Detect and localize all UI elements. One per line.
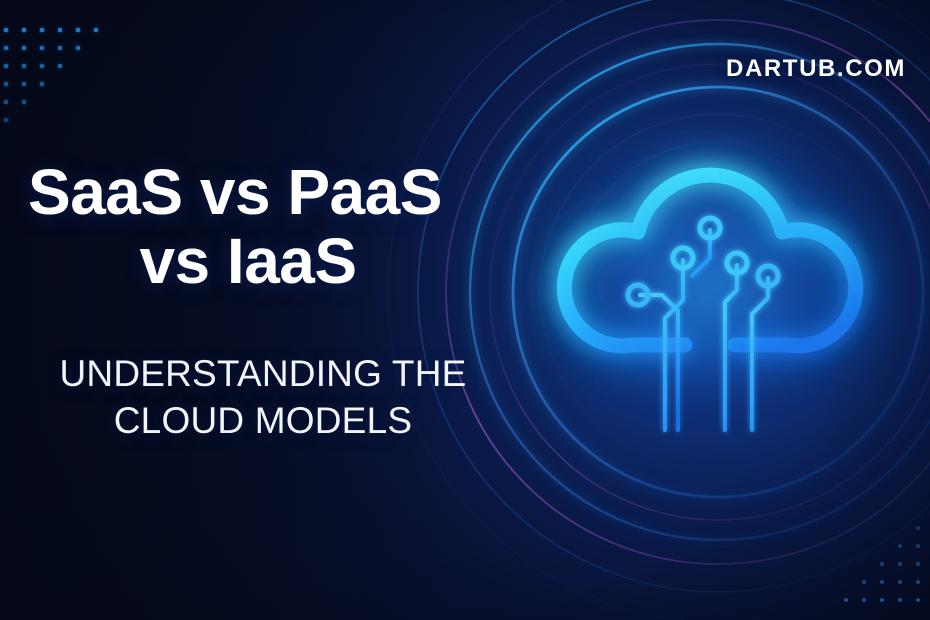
grid-dot <box>898 580 902 584</box>
grid-dot <box>4 28 8 32</box>
grid-dot <box>76 46 80 50</box>
poster-canvas: DARTUB.COM SaaS vs PaaS vs IaaS UNDERSTA… <box>0 0 930 620</box>
grid-dot <box>40 82 44 86</box>
grid-dot <box>4 82 8 86</box>
grid-dot <box>40 28 44 32</box>
grid-dot <box>916 562 920 566</box>
cloud-glow-halo <box>560 160 860 410</box>
dot-grid-bottom-right <box>800 492 920 602</box>
grid-dot <box>916 580 920 584</box>
grid-dot <box>916 526 920 530</box>
grid-dot <box>880 598 884 602</box>
grid-dot <box>58 28 62 32</box>
grid-dot <box>58 46 62 50</box>
grid-dot <box>898 598 902 602</box>
grid-dot <box>4 118 8 122</box>
title-line-2: vs IaaS <box>28 227 498 296</box>
grid-dot <box>916 598 920 602</box>
subtitle-line-1: UNDERSTANDING THE <box>28 350 498 397</box>
grid-dot <box>844 598 848 602</box>
grid-dot <box>22 46 26 50</box>
grid-dot <box>40 46 44 50</box>
grid-dot <box>22 28 26 32</box>
title-line-1: SaaS vs PaaS <box>28 158 498 227</box>
page-subtitle: UNDERSTANDING THE CLOUD MODELS <box>28 350 508 445</box>
cloud-circuit-graphic <box>520 130 900 460</box>
grid-dot <box>76 28 80 32</box>
subtitle-line-2: CLOUD MODELS <box>28 397 498 444</box>
grid-dot <box>40 64 44 68</box>
grid-dot <box>94 28 98 32</box>
watermark-text: DARTUB.COM <box>726 55 906 83</box>
grid-dot <box>58 64 62 68</box>
grid-dot <box>4 100 8 104</box>
grid-dot <box>862 598 866 602</box>
grid-dot <box>880 562 884 566</box>
grid-dot <box>898 562 902 566</box>
grid-dot <box>916 544 920 548</box>
grid-dot <box>22 64 26 68</box>
grid-dot <box>4 64 8 68</box>
dot-grid-top-left <box>4 28 124 148</box>
grid-dot <box>898 544 902 548</box>
grid-dot <box>22 100 26 104</box>
grid-dot <box>862 580 866 584</box>
page-title: SaaS vs PaaS vs IaaS <box>28 158 498 296</box>
grid-dot <box>880 580 884 584</box>
grid-dot <box>22 82 26 86</box>
grid-dot <box>4 46 8 50</box>
